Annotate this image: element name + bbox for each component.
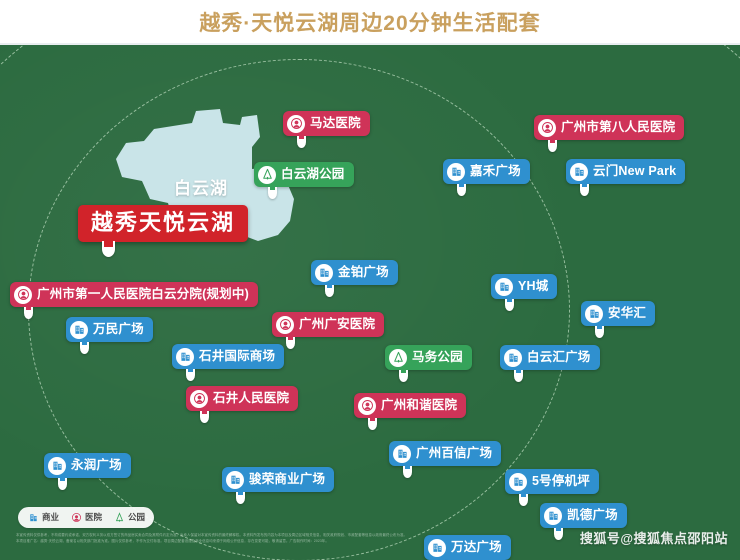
hospital-pin-icon <box>358 397 376 415</box>
poi-pin-hospital[interactable]: 广州市第一人民医院白云分院(规划中) <box>10 282 258 307</box>
legend-item-hospital: 医院 <box>70 512 102 524</box>
hospital-pin-icon <box>14 286 32 304</box>
poi-pin-commercial[interactable]: 万民广场 <box>66 317 153 342</box>
building-icon <box>176 348 194 366</box>
tree-icon <box>258 166 276 184</box>
header-bar: 越秀·天悦云湖周边20分钟生活配套 <box>0 0 740 44</box>
poi-label: 广州市第八人民医院 <box>561 121 675 134</box>
legend-label: 公园 <box>128 513 145 522</box>
poi-label: 凯德广场 <box>567 509 618 522</box>
poi-pin-commercial[interactable]: 金铂广场 <box>311 260 398 285</box>
poi-label: 广州和谐医院 <box>381 399 457 412</box>
legend: 商业 医院 公园 <box>18 507 154 528</box>
poi-label: 马务公园 <box>412 351 463 364</box>
poi-pin-commercial[interactable]: 安华汇 <box>581 301 655 326</box>
tree-icon <box>389 349 407 367</box>
hospital-pin-icon <box>538 119 556 137</box>
building-icon <box>393 445 411 463</box>
poi-pin-hospital[interactable]: 马达医院 <box>283 111 370 136</box>
building-icon <box>447 163 465 181</box>
poi-label: 嘉禾广场 <box>470 165 521 178</box>
poi-pin-hospital[interactable]: 广州和谐医院 <box>354 393 466 418</box>
poi-label: 万民广场 <box>93 323 144 336</box>
map-canvas: 白云湖 越秀天悦云湖 马达医院白云湖公园广州市第八人民医院嘉禾广场云门New P… <box>0 45 740 560</box>
poi-label: 白云湖公园 <box>281 168 345 181</box>
building-icon <box>509 473 527 491</box>
poi-pin-commercial[interactable]: 骏荣商业广场 <box>222 467 334 492</box>
tree-icon <box>113 512 125 524</box>
building-icon <box>544 507 562 525</box>
poi-pin-commercial[interactable]: 云门New Park <box>566 159 685 184</box>
poi-label: 云门New Park <box>593 165 676 178</box>
building-icon <box>226 471 244 489</box>
poi-pin-hospital[interactable]: 石井人民医院 <box>186 386 298 411</box>
poi-label: 永润广场 <box>71 459 122 472</box>
building-icon <box>27 512 39 524</box>
building-icon <box>570 163 588 181</box>
legend-label: 医院 <box>85 513 102 522</box>
lake-label: 白云湖 <box>174 174 228 199</box>
poi-label: 骏荣商业广场 <box>249 473 325 486</box>
poi-pin-commercial[interactable]: 5号停机坪 <box>505 469 599 494</box>
building-icon <box>315 264 333 282</box>
poi-label: 石井人民医院 <box>213 392 289 405</box>
hospital-pin-icon <box>287 115 305 133</box>
project-marker[interactable]: 越秀天悦云湖 <box>78 205 248 242</box>
legend-item-commercial: 商业 <box>27 512 59 524</box>
poi-pin-commercial[interactable]: YH城 <box>491 274 557 299</box>
poi-pin-commercial[interactable]: 白云汇广场 <box>500 345 600 370</box>
poi-pin-commercial[interactable]: 广州百信广场 <box>389 441 501 466</box>
building-icon <box>504 349 522 367</box>
page-title: 越秀·天悦云湖周边20分钟生活配套 <box>199 7 540 37</box>
poi-label: YH城 <box>518 280 548 293</box>
legend-label: 商业 <box>42 513 59 522</box>
poi-label: 石井国际商场 <box>199 350 275 363</box>
poi-label: 安华汇 <box>608 307 646 320</box>
poi-pin-commercial[interactable]: 石井国际商场 <box>172 344 284 369</box>
hospital-pin-icon <box>276 316 294 334</box>
building-icon <box>48 457 66 475</box>
watermark: 搜狐号@搜狐焦点邵阳站 <box>580 528 728 547</box>
project-label: 越秀天悦云湖 <box>91 210 235 235</box>
building-icon <box>70 321 88 339</box>
poi-label: 广州百信广场 <box>416 447 492 460</box>
hospital-pin-icon <box>70 512 82 524</box>
hospital-pin-icon <box>190 390 208 408</box>
poi-pin-commercial[interactable]: 永润广场 <box>44 453 131 478</box>
poi-label: 白云汇广场 <box>527 351 591 364</box>
poi-pin-hospital[interactable]: 广州市第八人民医院 <box>534 115 684 140</box>
legend-item-park: 公园 <box>113 512 145 524</box>
poi-pin-park[interactable]: 白云湖公园 <box>254 162 354 187</box>
poi-pin-hospital[interactable]: 广州广安医院 <box>272 312 384 337</box>
infographic-root: 越秀·天悦云湖周边20分钟生活配套 白云湖 越秀天悦云湖 马达医院白云湖公园广州… <box>0 0 740 560</box>
poi-label: 马达医院 <box>310 117 361 130</box>
poi-label: 广州广安医院 <box>299 318 375 331</box>
poi-pin-park[interactable]: 马务公园 <box>385 345 472 370</box>
poi-pin-commercial[interactable]: 嘉禾广场 <box>443 159 530 184</box>
poi-label: 金铂广场 <box>338 266 389 279</box>
poi-label: 5号停机坪 <box>532 475 590 488</box>
poi-pin-commercial[interactable]: 凯德广场 <box>540 503 627 528</box>
poi-label: 广州市第一人民医院白云分院(规划中) <box>37 288 249 301</box>
building-icon <box>585 305 603 323</box>
building-icon <box>495 278 513 296</box>
